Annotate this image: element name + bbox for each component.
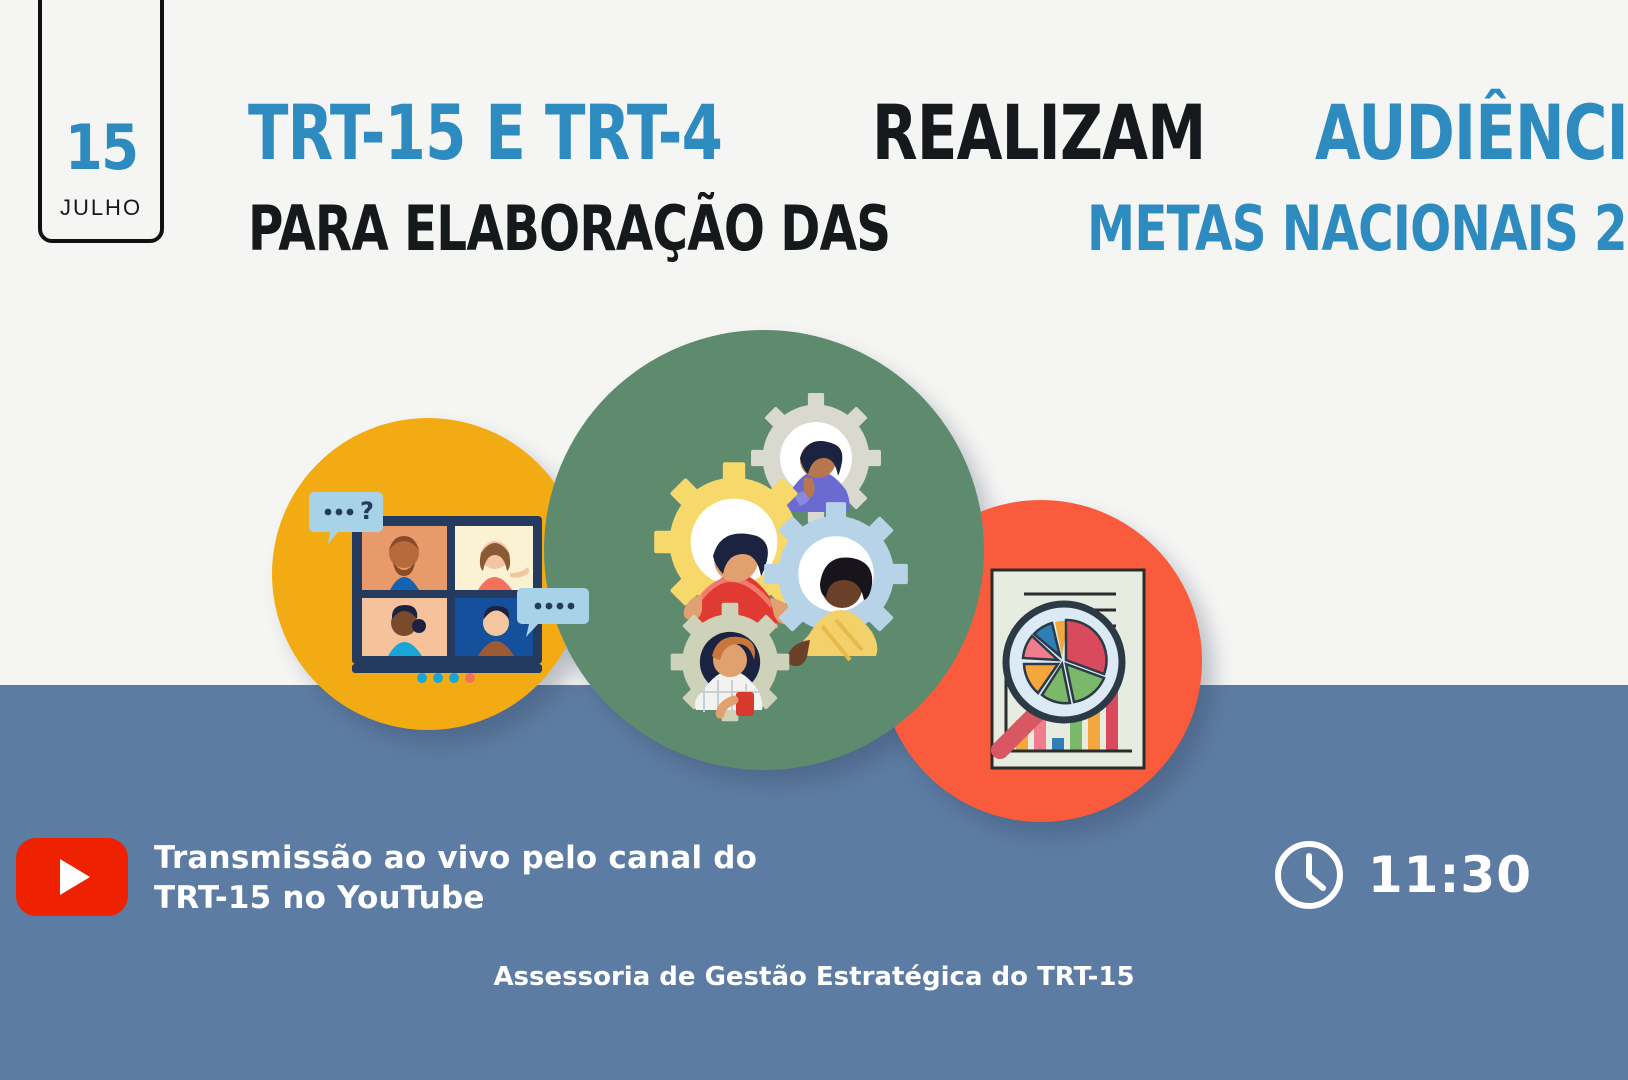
broadcast-text: Transmissão ao vivo pelo canal do TRT-15… <box>154 838 757 919</box>
poster-canvas: 15 JULHO TRT-15 E TRT-4REALIZAMAUDIÊNCIA… <box>0 0 1628 1080</box>
data-analysis-illustration <box>940 560 1180 790</box>
headline-segment-metas: METAS NACIONAIS 2025 <box>1087 198 1628 260</box>
svg-text:?: ? <box>360 497 374 525</box>
play-triangle-icon <box>60 859 90 895</box>
headline-line-2: PARA ELABORAÇÃO DASMETAS NACIONAIS 2025 <box>248 198 1578 261</box>
broadcast-info[interactable]: Transmissão ao vivo pelo canal do TRT-15… <box>16 838 757 919</box>
clock-icon <box>1272 838 1346 912</box>
headline-line-1: TRT-15 E TRT-4REALIZAMAUDIÊNCIA PÚBLICA <box>248 95 1578 172</box>
headline: TRT-15 E TRT-4REALIZAMAUDIÊNCIA PÚBLICA … <box>248 95 1578 261</box>
schedule-info: 11:30 <box>1272 838 1532 912</box>
headline-segment-trt: TRT-15 E TRT-4 <box>248 95 722 171</box>
date-badge: 15 JULHO <box>38 0 164 243</box>
youtube-play-icon[interactable] <box>16 838 128 916</box>
video-call-illustration: ? <box>300 470 600 700</box>
broadcast-line-2: TRT-15 no YouTube <box>154 878 757 918</box>
gears-team-illustration <box>608 392 948 702</box>
broadcast-line-1: Transmissão ao vivo pelo canal do <box>154 838 757 878</box>
footer-credit: Assessoria de Gestão Estratégica do TRT-… <box>0 962 1628 992</box>
date-month: JULHO <box>60 195 142 221</box>
headline-segment-audiencia: AUDIÊNCIA PÚBLICA <box>1315 95 1628 171</box>
date-day: 15 <box>65 117 137 179</box>
speech-bubble-dots <box>517 588 589 637</box>
headline-segment-realizam: REALIZAM <box>872 95 1205 171</box>
event-time: 11:30 <box>1368 846 1532 904</box>
headline-segment-elaboracao: PARA ELABORAÇÃO DAS <box>248 198 890 260</box>
